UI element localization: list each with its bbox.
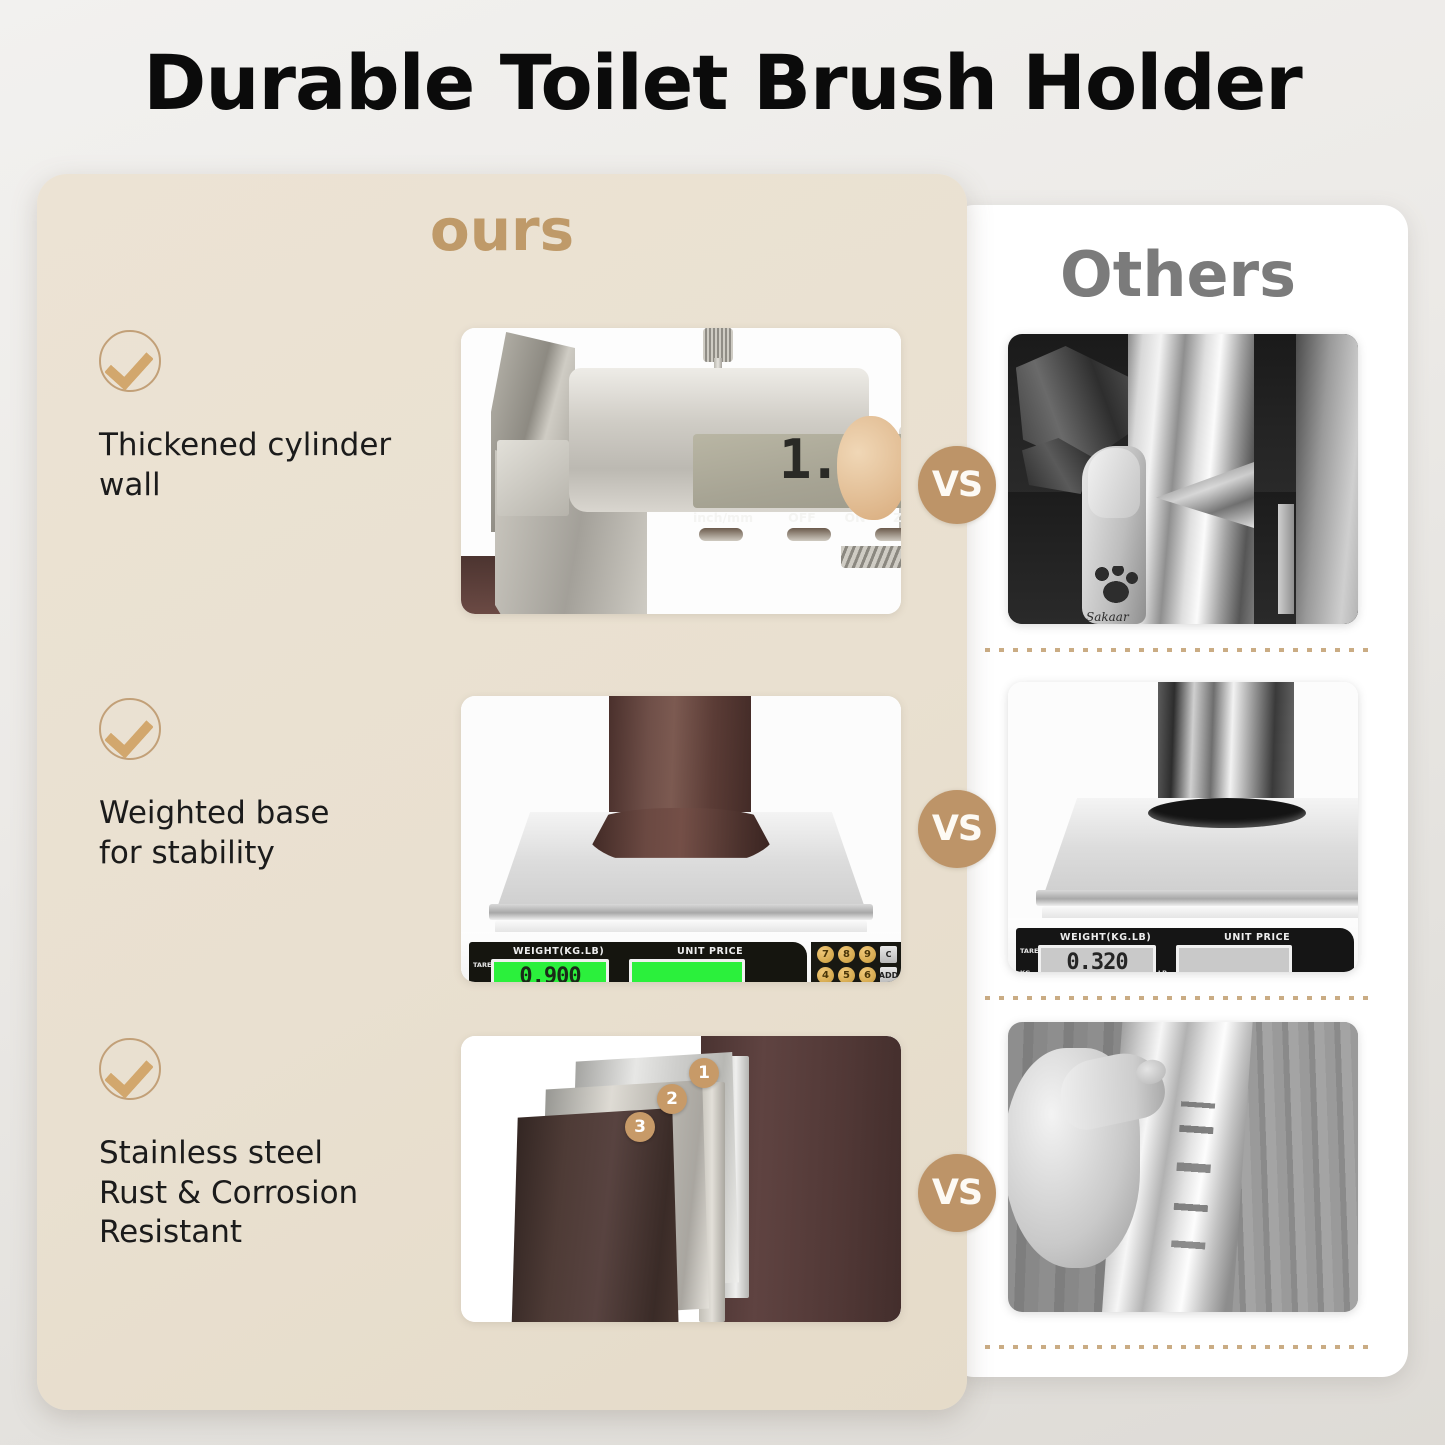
hand-thumb <box>1088 448 1140 518</box>
scale-lb-side: LB <box>1158 947 1175 972</box>
caliper-button <box>699 528 743 541</box>
layer-badge-2: 2 <box>657 1084 687 1114</box>
scale-weight-label: WEIGHT(KG.LB) <box>1060 932 1151 943</box>
feature-2-line-1: Weighted base <box>99 794 439 834</box>
scale-lb-side: LB <box>611 961 628 982</box>
vs-badge-3: VS <box>918 1154 996 1232</box>
page-title: Durable Toilet Brush Holder <box>0 38 1445 127</box>
keypad-key: 5 <box>838 967 855 982</box>
vs-badge-2: VS <box>918 790 996 868</box>
scale-unitprice-lcd <box>1176 945 1292 972</box>
vs-badge-1: VS <box>918 446 996 524</box>
others-rusty-cylinder-photo <box>1008 1022 1358 1312</box>
feature-1-text: Thickened cylinder wall <box>99 426 439 505</box>
scale-unitprice-lcd <box>629 959 745 982</box>
scale-edge <box>489 904 873 920</box>
feature-2-text: Weighted base for stability <box>99 794 439 873</box>
check-icon <box>99 330 161 392</box>
scale-tare-label: TARE <box>1020 947 1037 955</box>
caliper-body: 1.00 mm inch/mm OFF ON ZERO <box>569 368 869 512</box>
ours-scale-photo: WEIGHT(KG.LB) UNIT PRICE TARE KG 0.900 L… <box>461 696 901 982</box>
scale-unitprice-label: UNIT PRICE <box>1224 932 1290 943</box>
scale-tare-label: TARE <box>473 961 490 969</box>
check-icon <box>99 698 161 760</box>
feature-3-line-2: Rust & Corrosion <box>99 1174 439 1214</box>
scale-edge <box>1036 890 1358 906</box>
hand-thumb <box>837 416 901 520</box>
others-divider-2 <box>985 996 1373 1000</box>
lcd-inner: 0.900 <box>494 962 606 982</box>
keypad-key: 4 <box>817 967 834 982</box>
keypad-key: C <box>880 946 897 963</box>
scale-weight-lcd: 0.320 <box>1038 945 1156 972</box>
scale-side-labels: TARE KG <box>473 961 490 982</box>
ours-row-thickened-wall: Thickened cylinder wall 1.00 mm inch/mm … <box>37 300 967 640</box>
others-divider-3 <box>985 1345 1373 1349</box>
rubber-base-ring <box>1148 798 1306 828</box>
background-strip <box>1278 504 1294 614</box>
layers-diagram-photo: 1 2 3 <box>461 1036 901 1322</box>
scale-lb-label: LB <box>1158 969 1175 972</box>
material-layer-3 <box>511 1108 679 1322</box>
keypad-row: 7 8 9 C <box>811 942 901 963</box>
lcd-inner: 0.320 <box>1041 948 1153 972</box>
feature-2: Weighted base for stability <box>99 698 439 873</box>
background-wall <box>1296 334 1358 624</box>
steel-cylinder <box>1158 682 1294 810</box>
caliper-photo: 1.00 mm inch/mm OFF ON ZERO <box>461 328 901 614</box>
feature-3-text: Stainless steel Rust & Corrosion Resista… <box>99 1134 439 1253</box>
tattoo-text: Sakaar <box>1086 610 1129 624</box>
caliper-label-inchmm: inch/mm <box>693 510 769 525</box>
feature-3-line-1: Stainless steel <box>99 1134 439 1174</box>
caliper-slider <box>497 440 569 516</box>
keypad-key: ADD <box>880 967 897 982</box>
scale-weight-lcd: 0.900 <box>491 959 609 982</box>
caliper-buttons <box>699 528 901 541</box>
ours-row-stainless-steel: Stainless steel Rust & Corrosion Resista… <box>37 1008 967 1348</box>
brown-cylinder <box>609 696 751 826</box>
caliper-label-off: OFF <box>781 510 823 525</box>
scale-weight-value: 0.900 <box>519 964 580 983</box>
caliper-button <box>787 528 831 541</box>
ours-row-weighted-base: Weighted base for stability WEIGHT(KG.LB… <box>37 668 967 1008</box>
others-crushed-cylinder-photo: Sakaar <box>1008 334 1358 624</box>
feature-1: Thickened cylinder wall <box>99 330 439 505</box>
paw-tattoo <box>1092 566 1144 612</box>
lcd-inner <box>1179 948 1289 972</box>
feature-2-line-2: for stability <box>99 834 439 874</box>
others-divider-1 <box>985 648 1373 652</box>
scale-weight-label: WEIGHT(KG.LB) <box>513 946 604 957</box>
scale-kg-label: KG <box>1020 969 1037 972</box>
caliper-grip <box>841 546 901 568</box>
scale-display-panel: WEIGHT(KG.LB) UNIT PRICE TARE KG 0.320 L… <box>1016 928 1354 972</box>
scale-unitprice-label: UNIT PRICE <box>677 946 743 957</box>
scale-side-labels: TARE KG <box>1020 947 1037 972</box>
feature-3-line-3: Resistant <box>99 1213 439 1253</box>
keypad-row: 4 5 6 ADD <box>811 963 901 982</box>
others-scale-photo: WEIGHT(KG.LB) UNIT PRICE TARE KG 0.320 L… <box>1008 682 1358 972</box>
layer-badge-3: 3 <box>625 1112 655 1142</box>
scale-display-panel: WEIGHT(KG.LB) UNIT PRICE TARE KG 0.900 L… <box>469 942 807 982</box>
scale-keypad: 7 8 9 C 4 5 6 ADD <box>811 942 901 982</box>
weighted-base <box>585 808 777 866</box>
feature-1-line-1: Thickened cylinder <box>99 426 439 466</box>
scale-weight-value: 0.320 <box>1066 950 1127 973</box>
caliper-thumbwheel <box>703 328 733 362</box>
caliper-button <box>875 528 901 541</box>
layer-badge-1: 1 <box>689 1058 719 1088</box>
lcd-inner <box>632 962 742 982</box>
feature-1-line-2: wall <box>99 466 439 506</box>
keypad-key: 6 <box>859 967 876 982</box>
check-icon <box>99 1038 161 1100</box>
keypad-key: 7 <box>817 946 834 963</box>
keypad-key: 9 <box>859 946 876 963</box>
ours-heading: ours <box>37 196 967 264</box>
feature-3: Stainless steel Rust & Corrosion Resista… <box>99 1038 439 1253</box>
keypad-key: 8 <box>838 946 855 963</box>
others-heading: Others <box>948 238 1408 311</box>
